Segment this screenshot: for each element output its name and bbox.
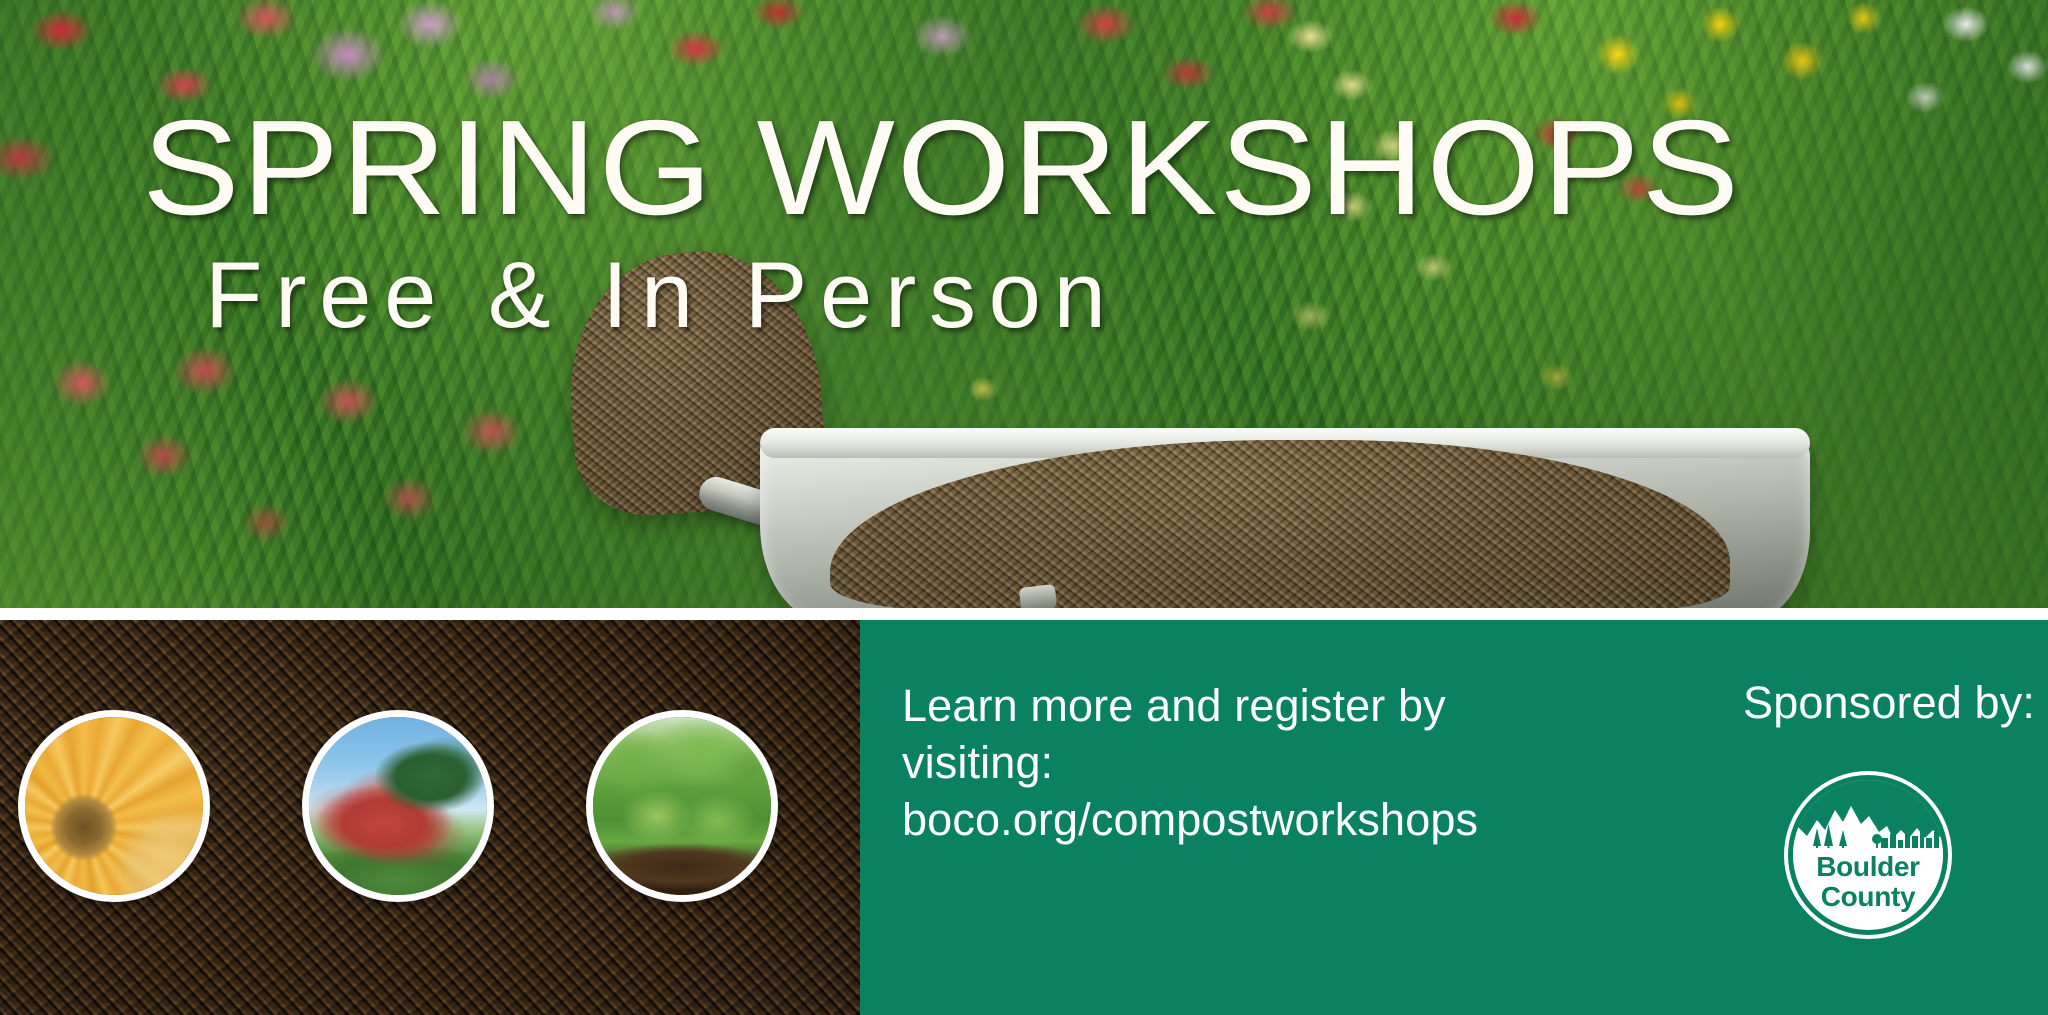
register-info-text: Learn more and register by visiting: boc… (902, 677, 1602, 848)
spring-workshops-banner: SPRING WORKSHOPS Free & In Person Learn … (0, 0, 2048, 1015)
boulder-county-logo-text-line-1: Boulder (1793, 852, 1943, 882)
boulder-county-logo-disc: Boulder County (1793, 780, 1943, 930)
boulder-county-logo[interactable]: Boulder County (1784, 771, 1952, 939)
sunflower-photo-image (25, 717, 203, 895)
page-title: SPRING WORKSHOPS (142, 100, 2048, 235)
hero-section: SPRING WORKSHOPS Free & In Person (0, 0, 2048, 608)
sponsored-by-label: Sponsored by: (1743, 677, 2035, 729)
boulder-county-logo-text-line-2: County (1793, 882, 1943, 912)
garden-park-photo-image (593, 717, 771, 895)
hero-text-block: SPRING WORKSHOPS Free & In Person (0, 0, 2048, 608)
garden-park-photo (586, 710, 778, 902)
register-info-line-2: visiting: (902, 734, 1602, 791)
page-subtitle: Free & In Person (205, 248, 1119, 342)
autumn-tree-photo-image (309, 717, 487, 895)
autumn-tree-photo (302, 710, 494, 902)
register-url[interactable]: boco.org/compostworkshops (902, 791, 1602, 848)
boulder-county-logo-text: Boulder County (1793, 852, 1943, 912)
register-info-line-1: Learn more and register by (902, 677, 1602, 734)
sunflower-photo (18, 710, 210, 902)
